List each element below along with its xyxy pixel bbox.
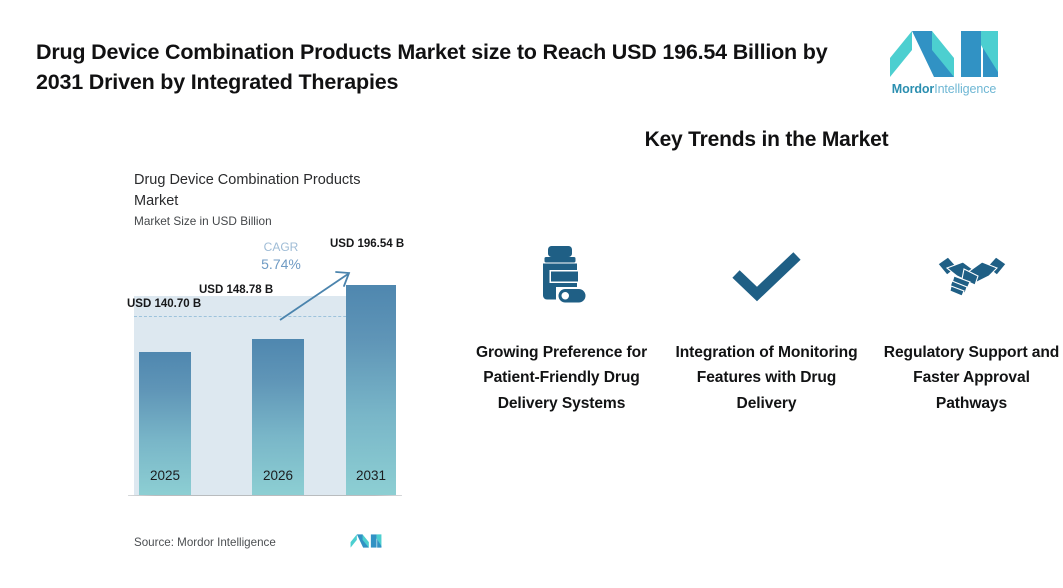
trend-item-2: Integration of Monitoring Features with … [675, 240, 858, 416]
page-title: Drug Device Combination Products Market … [36, 38, 866, 97]
chart-band [194, 296, 247, 496]
bar-value-label-2025: USD 140.70 B [127, 298, 201, 310]
brand-logo: MordorIntelligence [884, 28, 1004, 96]
bar-value-label-2026: USD 148.78 B [199, 284, 273, 296]
medicine-bottle-pill-icon-svg [535, 246, 589, 308]
trend-label-3: Regulatory Support and Faster Approval P… [880, 340, 1063, 416]
chart-source-label: Source: Mordor Intelligence [134, 536, 276, 549]
key-trends-list: Growing Preference for Patient-Friendly … [470, 240, 1063, 416]
brand-logo-wordmark: MordorIntelligence [884, 82, 1004, 96]
trend-label-1: Growing Preference for Patient-Friendly … [470, 340, 653, 416]
chart-panel: Drug Device Combination Products Market … [0, 150, 470, 588]
infographic-page: Drug Device Combination Products Market … [0, 0, 1063, 588]
x-tick-2025: 2025 [139, 468, 191, 483]
handshake-icon-svg [937, 254, 1007, 300]
checkmark-icon-svg [732, 252, 802, 302]
handshake-icon [937, 240, 1007, 314]
bar-value-label-2031: USD 196.54 B [330, 238, 404, 250]
mordor-intelligence-logo-icon [888, 28, 1000, 80]
bar-chart-plot: USD 140.70 B USD 148.78 B USD 196.54 B C… [134, 260, 396, 496]
checkmark-icon [732, 240, 802, 314]
brand-logo-word-light: Intelligence [934, 82, 996, 96]
trend-item-1: Growing Preference for Patient-Friendly … [470, 240, 653, 416]
cagr-arrow-icon [280, 270, 360, 322]
x-tick-2026: 2026 [252, 468, 304, 483]
cagr-annotation: CAGR 5.74% [242, 240, 320, 273]
key-trends-panel: Key Trends in the Market [470, 128, 1063, 528]
chart-band [307, 296, 351, 496]
key-trends-heading: Key Trends in the Market [470, 128, 1063, 152]
chart-source-row: Source: Mordor Intelligence [134, 532, 394, 558]
x-axis-line [128, 495, 402, 497]
trend-label-2: Integration of Monitoring Features with … [675, 340, 858, 416]
x-tick-2031: 2031 [346, 468, 396, 483]
mordor-intelligence-mark-icon [350, 532, 382, 550]
cagr-label: CAGR [242, 240, 320, 255]
chart-subtitle: Market Size in USD Billion [134, 214, 394, 228]
brand-logo-word-bold: Mordor [892, 82, 934, 96]
chart-title: Drug Device Combination Products Market [134, 170, 394, 211]
trend-item-3: Regulatory Support and Faster Approval P… [880, 240, 1063, 416]
medicine-bottle-pill-icon [535, 240, 589, 314]
